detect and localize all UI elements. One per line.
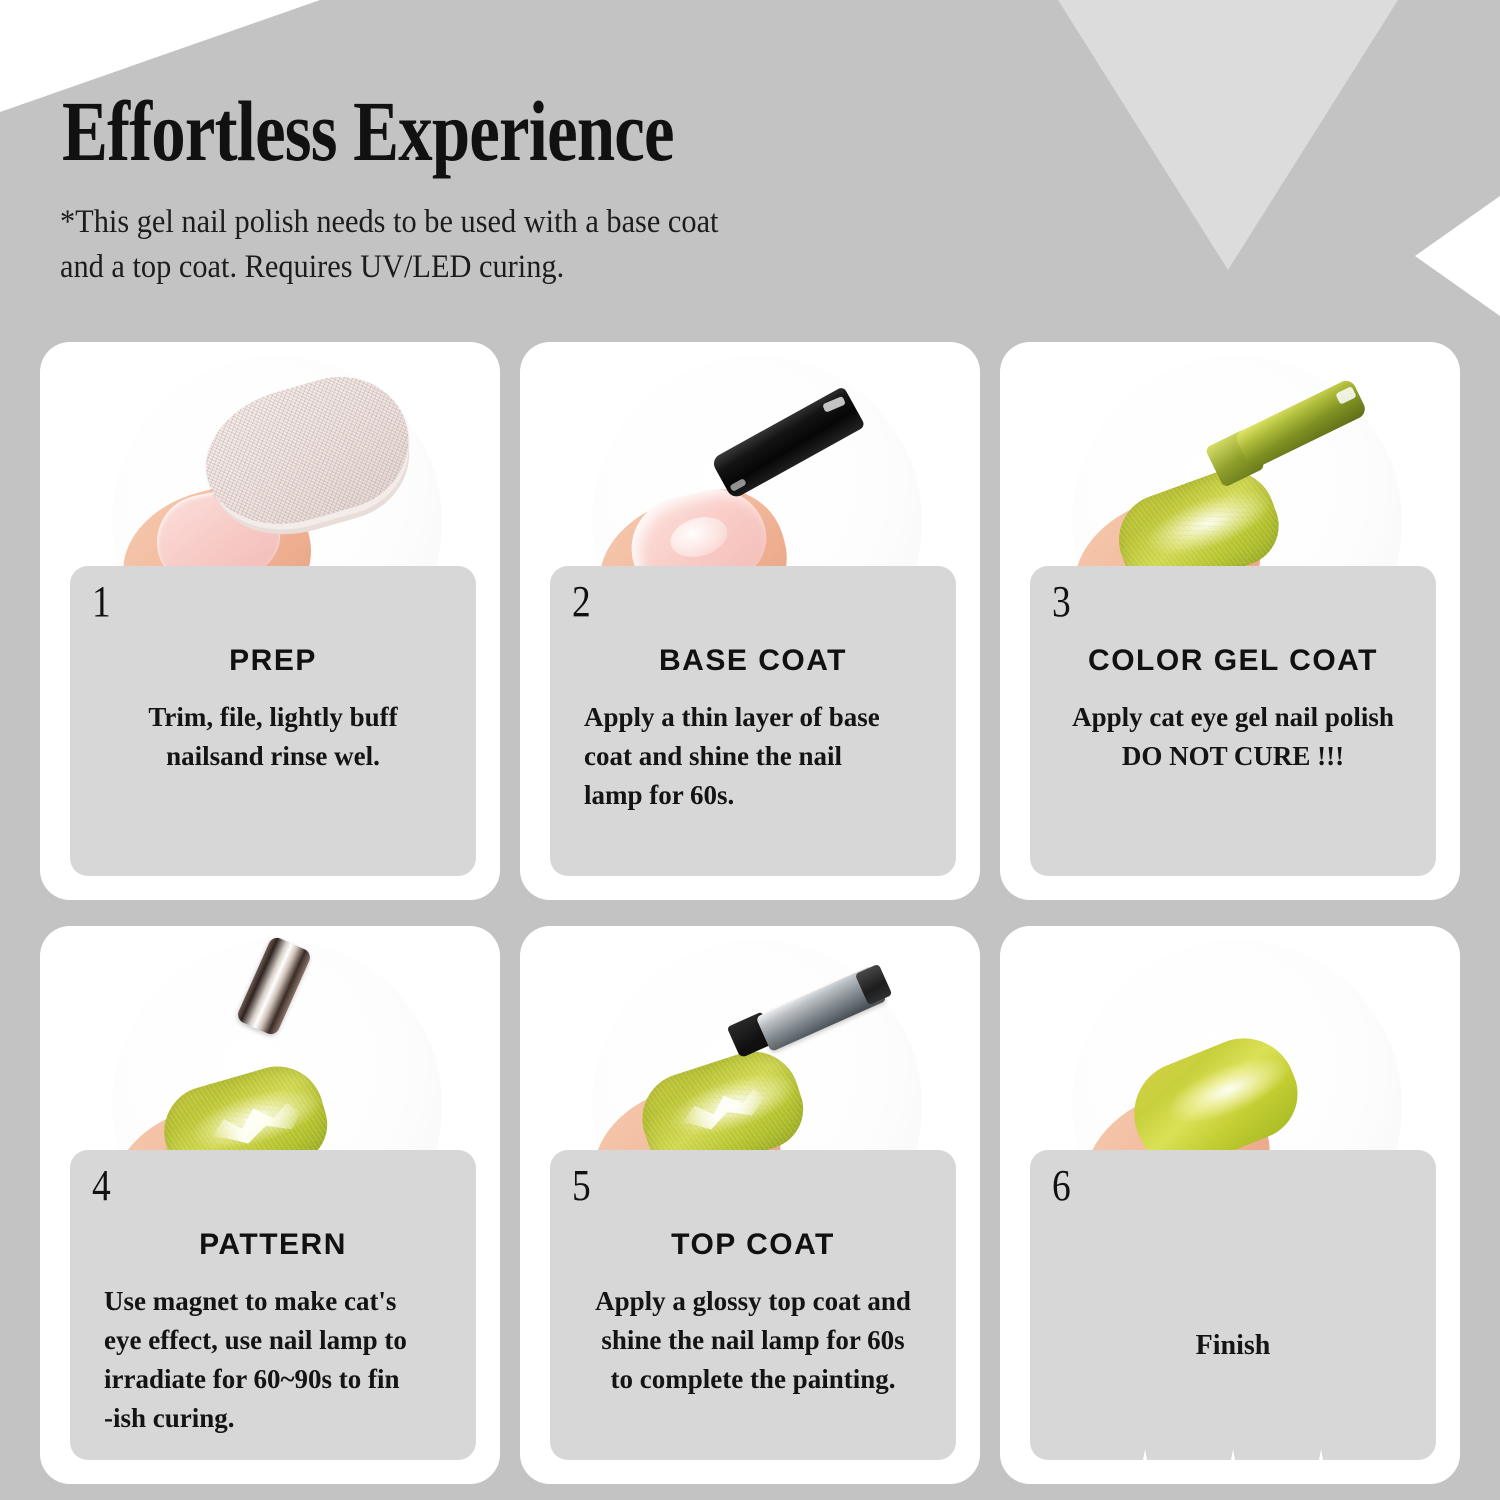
step-card-6: 6 Finish xyxy=(1000,926,1460,1484)
step-card-4: 4 PATTERN Use magnet to make cat's eye e… xyxy=(40,926,500,1484)
corner-arrow-right xyxy=(1415,196,1500,316)
step-body: Apply a glossy top coat and shine the na… xyxy=(566,1282,940,1399)
step-number: 4 xyxy=(92,1164,111,1208)
step-number: 3 xyxy=(1052,580,1071,624)
sparkle-star-icon xyxy=(1203,1447,1263,1484)
corner-block-right xyxy=(1415,0,1500,200)
step-card-3: 3 COLOR GEL COAT Apply cat eye gel nail … xyxy=(1000,342,1460,900)
step-number: 2 xyxy=(572,580,591,624)
step-number: 5 xyxy=(572,1164,591,1208)
step-card-2: 2 BASE COAT Apply a thin layer of base c… xyxy=(520,342,980,900)
step-6-info-panel: 6 Finish xyxy=(1030,1150,1436,1460)
step-body: Trim, file, lightly buff nailsand rinse … xyxy=(86,698,460,776)
sparkle-star-icon xyxy=(1291,1447,1351,1484)
step-1-info-panel: 1 PREP Trim, file, lightly buff nailsand… xyxy=(70,566,476,876)
step-heading: TOP COAT xyxy=(550,1228,956,1262)
step-body: Apply cat eye gel nail polish DO NOT CUR… xyxy=(1046,698,1420,776)
step-body: Finish xyxy=(1046,1326,1420,1366)
step-heading: PREP xyxy=(70,644,476,678)
step-body: Use magnet to make cat's eye effect, use… xyxy=(104,1282,460,1438)
sparkle-core xyxy=(1220,1464,1246,1484)
step-number: 6 xyxy=(1052,1164,1071,1208)
step-heading: BASE COAT xyxy=(550,644,956,678)
steps-grid: 1 PREP Trim, file, lightly buff nailsand… xyxy=(40,342,1460,1484)
step-body: Apply a thin layer of base coat and shin… xyxy=(584,698,940,815)
step-heading: COLOR GEL COAT xyxy=(1030,644,1436,678)
step-5-info-panel: 5 TOP COAT Apply a glossy top coat and s… xyxy=(550,1150,956,1460)
sparkle-group xyxy=(1030,1432,1436,1484)
step-4-info-panel: 4 PATTERN Use magnet to make cat's eye e… xyxy=(70,1150,476,1460)
page-title: Effortless Experience xyxy=(62,88,674,174)
sparkle-star-icon xyxy=(1115,1447,1175,1484)
step-number: 1 xyxy=(92,580,111,624)
corner-chevron-top-right xyxy=(1058,0,1398,270)
step-card-1: 1 PREP Trim, file, lightly buff nailsand… xyxy=(40,342,500,900)
page-subtitle: *This gel nail polish needs to be used w… xyxy=(60,200,719,290)
sparkle-core xyxy=(1132,1464,1158,1484)
sparkle-core xyxy=(1308,1464,1334,1484)
step-card-5: 5 TOP COAT Apply a glossy top coat and s… xyxy=(520,926,980,1484)
step-3-info-panel: 3 COLOR GEL COAT Apply cat eye gel nail … xyxy=(1030,566,1436,876)
step-heading: PATTERN xyxy=(70,1228,476,1262)
step-2-info-panel: 2 BASE COAT Apply a thin layer of base c… xyxy=(550,566,956,876)
